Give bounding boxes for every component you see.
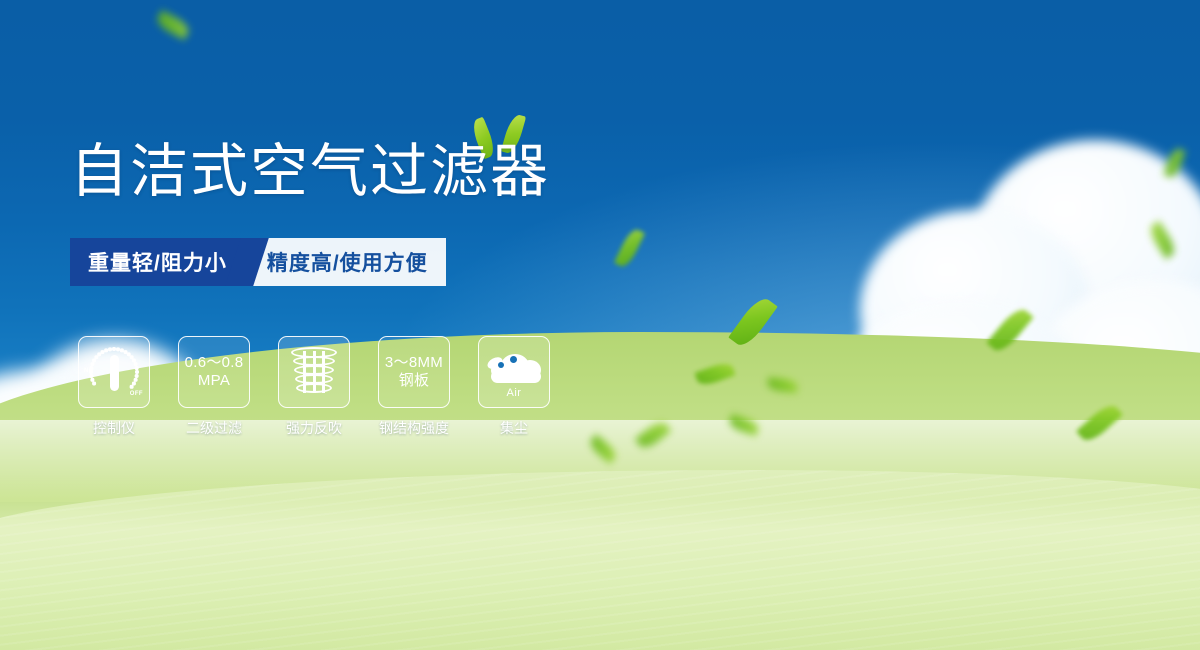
product-banner: 自洁式空气过滤器 重量轻/阻力小 精度高/使用方便 NO OFF 控制仪 (0, 0, 1200, 650)
steel-thickness: 3～8MM (385, 354, 443, 372)
gauge-no-label: NO (84, 368, 94, 374)
feature-label: 二级过滤 (186, 418, 242, 438)
subtitle-left-text: 重量轻/阻力小 (70, 238, 247, 286)
gauge-off-label: OFF (130, 391, 143, 397)
subtitle-right-text: 精度高/使用方便 (247, 238, 446, 286)
feature-label: 控制仪 (93, 418, 135, 438)
steel-material: 钢板 (385, 372, 443, 390)
grass-foreground (0, 470, 1200, 650)
grass-field (0, 440, 1200, 650)
feature-icon-box: 3～8MM 钢板 (378, 336, 450, 408)
page-title: 自洁式空气过滤器 (70, 143, 550, 201)
feature-item-steel: 3～8MM 钢板 钢结构强度 (378, 336, 450, 438)
dust-cloud-air-icon: Air (485, 346, 543, 398)
feature-item-pressure: 0.6～0.8 MPA 二级过滤 (178, 336, 250, 438)
feature-icon-box: NO OFF (78, 336, 150, 408)
feature-icon-box: 0.6～0.8 MPA (178, 336, 250, 408)
feature-item-backblow: 强力反吹 (278, 336, 350, 438)
steel-plate-text-icon: 3～8MM 钢板 (385, 354, 443, 389)
feature-list: NO OFF 控制仪 0.6～0.8 MPA 二级过滤 (78, 336, 550, 438)
feature-icon-box (278, 336, 350, 408)
control-gauge-icon: NO OFF (85, 343, 143, 401)
air-label: Air (485, 387, 543, 399)
pressure-unit: MPA (185, 372, 244, 390)
subtitle-bar: 重量轻/阻力小 精度高/使用方便 (70, 238, 446, 286)
pressure-text-icon: 0.6～0.8 MPA (185, 354, 244, 389)
feature-label: 集尘 (500, 418, 528, 438)
feature-label: 强力反吹 (286, 418, 342, 438)
feature-label: 钢结构强度 (379, 418, 449, 438)
feature-icon-box: Air (478, 336, 550, 408)
gauge-needle (110, 355, 119, 391)
pressure-value: 0.6～0.8 (185, 354, 244, 372)
spiral-filter-icon (289, 345, 339, 399)
feature-item-dust: Air 集尘 (478, 336, 550, 438)
feature-item-control: NO OFF 控制仪 (78, 336, 150, 438)
